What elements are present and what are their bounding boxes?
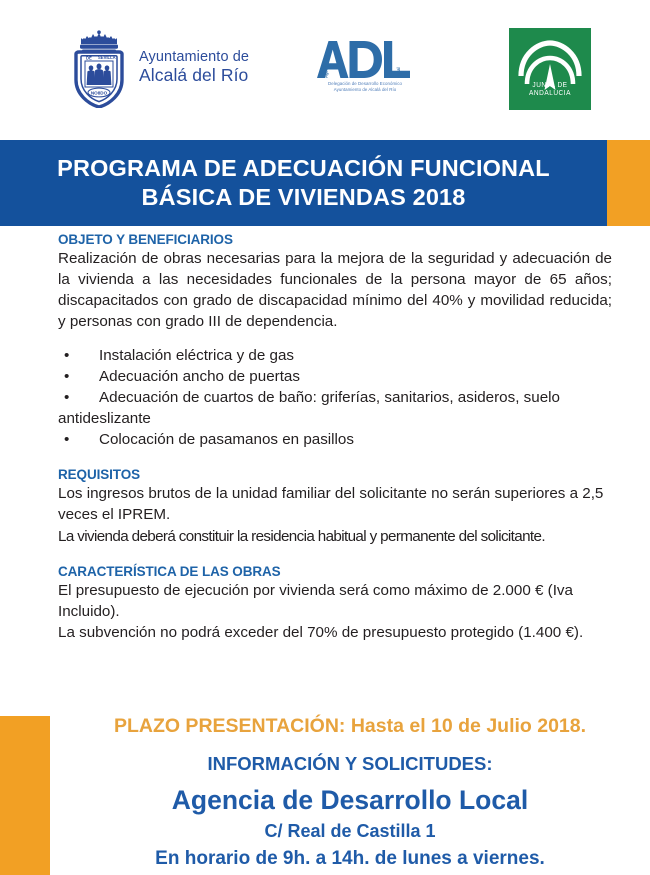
ayuntamiento-line2: Alcalá del Río bbox=[139, 66, 249, 86]
list-item: • Instalación eléctrica y de gas bbox=[58, 345, 612, 366]
ayuntamiento-line1: Ayuntamiento de bbox=[139, 49, 249, 65]
section-caracteristica-body2: La subvención no podrá exceder del 70% d… bbox=[58, 622, 612, 643]
ayuntamiento-logo: NO8DO DE SEVILLA Ayuntamiento de Alcalá … bbox=[68, 27, 283, 109]
title-line1: PROGRAMA DE ADECUACIÓN FUNCIONAL bbox=[57, 154, 550, 183]
footer-hours: En horario de 9h. a 14h. de lunes a vier… bbox=[50, 847, 650, 871]
section-requisitos: REQUISITOS Los ingresos brutos de la uni… bbox=[0, 467, 650, 546]
list-item-label: Adecuación ancho de puertas bbox=[99, 368, 300, 385]
section-objeto-body: Realización de obras necesarias para la … bbox=[58, 248, 612, 332]
bullet-icon: • bbox=[64, 345, 69, 366]
poster-title: PROGRAMA DE ADECUACIÓN FUNCIONAL BÁSICA … bbox=[0, 140, 607, 226]
list-item-label: Instalación eléctrica y de gas bbox=[99, 347, 294, 364]
poster-body: OBJETO Y BENEFICIARIOS Realización de ob… bbox=[0, 232, 650, 643]
title-line2: BÁSICA DE VIVIENDAS 2018 bbox=[142, 183, 466, 212]
section-requisitos-body2: La vivienda deberá constituir la residen… bbox=[58, 526, 612, 547]
footer-address: C/ Real de Castilla 1 bbox=[50, 820, 650, 843]
ayuntamiento-wordmark: Ayuntamiento de Alcalá del Río bbox=[139, 49, 249, 88]
junta-label: JUNTA DE ANDALUCIA bbox=[512, 81, 587, 97]
section-objeto: OBJETO Y BENEFICIARIOS Realización de ob… bbox=[0, 232, 650, 450]
adl-logo: Agencia Desarrollo Local Delegación de D… bbox=[303, 38, 427, 100]
svg-text:DE: DE bbox=[86, 55, 92, 60]
bullet-icon: • bbox=[64, 429, 69, 450]
list-item-label-wrap: antideslizante bbox=[58, 408, 612, 429]
list-item: • Colocación de pasamanos en pasillos bbox=[58, 429, 612, 450]
footer-agencia-name: Agencia de Desarrollo Local bbox=[50, 785, 650, 817]
list-item-label: Adecuación de cuartos de baño: griferías… bbox=[99, 389, 560, 406]
footer-orange-bar bbox=[0, 716, 50, 875]
svg-text:Desarrollo: Desarrollo bbox=[353, 57, 358, 78]
section-requisitos-heading: REQUISITOS bbox=[58, 467, 650, 482]
junta-arcs-icon bbox=[509, 28, 591, 110]
list-item-label: Colocación de pasamanos en pasillos bbox=[99, 431, 354, 448]
section-objeto-bullet-list: • Instalación eléctrica y de gas • Adecu… bbox=[58, 345, 612, 450]
footer-plazo: PLAZO PRESENTACIÓN: Hasta el 10 de Julio… bbox=[50, 714, 650, 738]
svg-text:Local: Local bbox=[396, 67, 401, 78]
section-caracteristica: CARACTERÍSTICA DE LAS OBRAS El presupues… bbox=[0, 564, 650, 643]
svg-text:SEVILLA: SEVILLA bbox=[98, 55, 116, 60]
bullet-icon: • bbox=[64, 366, 69, 387]
title-band-orange-accent bbox=[607, 140, 650, 226]
footer-info-heading: INFORMACIÓN Y SOLICITUDES: bbox=[50, 752, 650, 775]
section-objeto-heading: OBJETO Y BENEFICIARIOS bbox=[58, 232, 650, 247]
bullet-icon: • bbox=[64, 387, 69, 408]
list-item: • Adecuación de cuartos de baño: griferí… bbox=[58, 387, 612, 429]
ayuntamiento-crest-icon: NO8DO DE SEVILLA bbox=[68, 28, 130, 108]
junta-de-andalucia-logo: JUNTA DE ANDALUCIA bbox=[509, 28, 591, 110]
title-band: PROGRAMA DE ADECUACIÓN FUNCIONAL BÁSICA … bbox=[0, 140, 650, 226]
footer-block: PLAZO PRESENTACIÓN: Hasta el 10 de Julio… bbox=[50, 710, 650, 871]
header-logo-row: NO8DO DE SEVILLA Ayuntamiento de Alcalá … bbox=[0, 0, 650, 132]
svg-text:Agencia: Agencia bbox=[324, 61, 329, 78]
section-requisitos-body: Los ingresos brutos de la unidad familia… bbox=[58, 483, 612, 525]
adl-sub-line2: Ayuntamiento de Alcalá del Río bbox=[303, 87, 427, 93]
adl-subtitle: Delegación de Desarrollo Económico Ayunt… bbox=[303, 81, 427, 94]
section-caracteristica-heading: CARACTERÍSTICA DE LAS OBRAS bbox=[58, 564, 650, 579]
section-caracteristica-body: El presupuesto de ejecución por vivienda… bbox=[58, 580, 612, 622]
svg-text:NO8DO: NO8DO bbox=[91, 90, 108, 95]
list-item: • Adecuación ancho de puertas bbox=[58, 366, 612, 387]
adl-mark-icon: Agencia Desarrollo Local bbox=[315, 38, 415, 80]
